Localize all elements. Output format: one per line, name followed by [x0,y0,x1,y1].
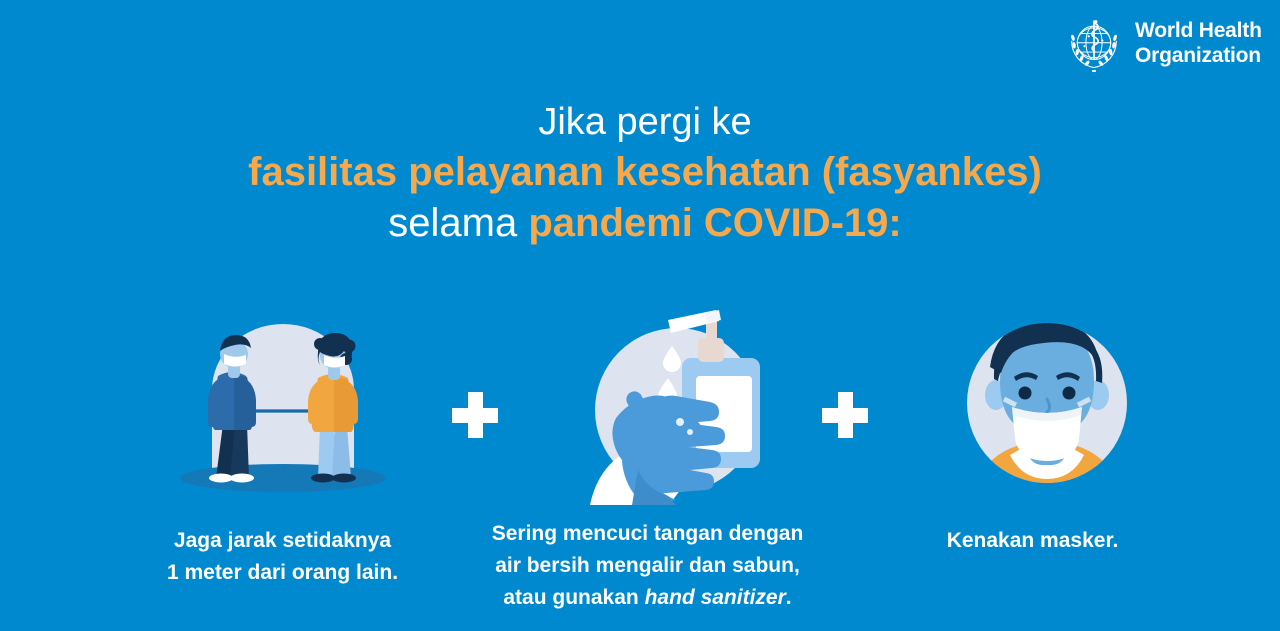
caption-2-line-1: Sering mencuci tangan dengan [455,518,840,550]
headline-line-3-white: selama [388,201,528,245]
plus-icon-bar-v [468,392,483,438]
caption-2-line-2: air bersih mengalir dan sabun, [455,550,840,582]
who-wordmark-line1: World Health [1135,19,1262,44]
plus-connector-2 [822,392,868,438]
caption-wear-mask: Kenakan masker. [880,525,1185,557]
who-wordmark-line2: Organization [1135,44,1262,69]
who-covid-infographic: World Health Organization Jika pergi ke … [0,0,1280,631]
physical-distancing-illustration [168,318,398,503]
headline-line-2: fasilitas pelayanan kesehatan (fasyankes… [10,147,1280,198]
caption-3-line-1: Kenakan masker. [880,525,1185,557]
caption-handwashing: Sering mencuci tangan dengan air bersih … [455,518,840,614]
caption-physical-distancing: Jaga jarak setidaknya 1 meter dari orang… [120,525,445,589]
headline: Jika pergi ke fasilitas pelayanan keseha… [0,98,1280,249]
person-wearing-mask-illustration [952,303,1142,503]
illustration-row [0,300,1280,520]
headline-line-1: Jika pergi ke [10,98,1280,147]
caption-2-line-3-text: atau gunakan [503,586,644,609]
caption-2-line-3: atau gunakan hand sanitizer. [455,582,840,614]
plus-icon-bar-v [838,392,853,438]
handwashing-sanitizer-illustration [572,300,790,505]
caption-2-hand-sanitizer-emphasis: hand sanitizer [645,586,786,609]
who-emblem-icon [1063,13,1125,75]
who-logo: World Health Organization [1063,13,1262,75]
plus-connector-1 [452,392,498,438]
headline-line-3-amber: pandemi COVID-19: [528,201,901,245]
who-wordmark: World Health Organization [1135,19,1262,68]
headline-line-3: selama pandemi COVID-19: [10,198,1280,249]
caption-1-line-1: Jaga jarak setidaknya [120,525,445,557]
caption-1-line-2: 1 meter dari orang lain. [120,557,445,589]
caption-2-line-3-period: . [786,586,792,609]
